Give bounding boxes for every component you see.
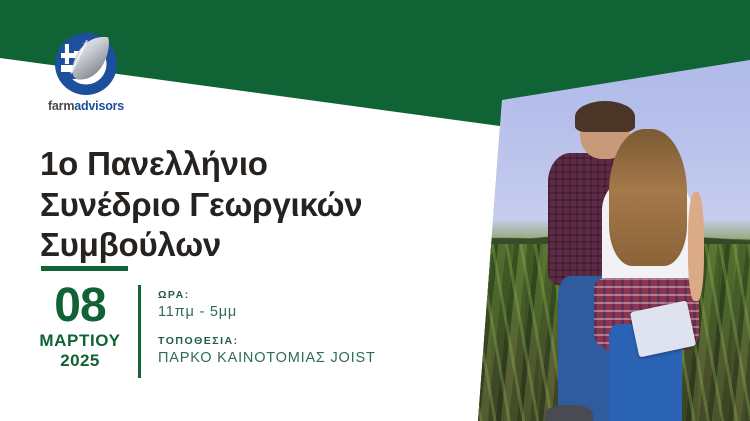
vertical-divider <box>138 285 141 378</box>
event-details: ΩΡΑ: 11πμ - 5μμ ΤΟΠΟΘΕΣΙΑ: ΠΑΡΚΟ ΚΑΙΝΟΤΟ… <box>158 289 376 368</box>
logo-wordmark: farmadvisors <box>40 100 132 113</box>
woman-arm <box>688 192 704 301</box>
title-line-1: 1ο Πανελλήνιο <box>40 144 510 185</box>
logo-mark-icon <box>55 33 117 95</box>
detail-time: ΩΡΑ: 11πμ - 5μμ <box>158 289 376 322</box>
woman-figure <box>587 135 712 421</box>
title-line-3: Συμβούλων <box>40 225 510 266</box>
man-hair <box>575 101 635 133</box>
page-title: 1ο Πανελλήνιο Συνέδριο Γεωργικών Συμβούλ… <box>40 144 510 266</box>
detail-location: ΤΟΠΟΘΕΣΙΑ: ΠΑΡΚΟ ΚΑΙΝΟΤΟΜΙΑΣ JOIST <box>158 335 376 368</box>
title-line-2: Συνέδριο Γεωργικών <box>40 185 510 226</box>
man-shoe <box>545 405 593 421</box>
date-day: 08 <box>26 282 134 329</box>
event-poster: farmadvisors 1ο Πανελλήνιο Συνέδριο Γεωρ… <box>0 0 750 421</box>
detail-time-label: ΩΡΑ: <box>158 289 376 303</box>
detail-location-value: ΠΑΡΚΟ ΚΑΙΝΟΤΟΜΙΑΣ JOIST <box>158 349 376 369</box>
detail-location-label: ΤΟΠΟΘΕΣΙΑ: <box>158 335 376 349</box>
date-month: ΜΑΡΤΙΟΥ <box>26 332 134 351</box>
event-date: 08 ΜΑΡΤΙΟΥ 2025 <box>26 282 134 370</box>
detail-time-value: 11πμ - 5μμ <box>158 303 376 323</box>
date-year: 2025 <box>26 352 134 371</box>
farmadvisors-logo: farmadvisors <box>40 33 132 113</box>
logo-word-farm: farm <box>48 99 74 113</box>
woman-hair <box>609 129 687 266</box>
title-divider <box>41 266 128 271</box>
greek-flag-cross <box>61 53 75 59</box>
logo-word-advisors: advisors <box>74 99 124 113</box>
